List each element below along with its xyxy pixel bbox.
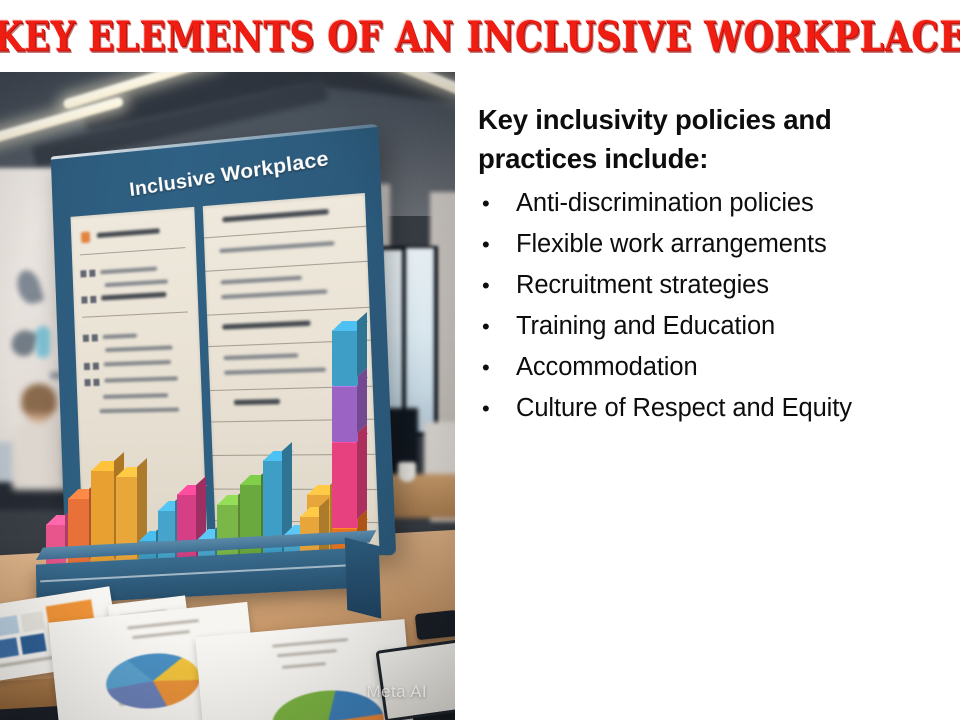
list-item: • Recruitment strategies xyxy=(478,270,948,300)
list-item-label: Culture of Respect and Equity xyxy=(516,393,852,423)
panel-chip xyxy=(80,270,86,277)
panel-text-line xyxy=(105,345,172,352)
panel-text-line xyxy=(219,241,334,253)
list-item-label: Anti-discrimination policies xyxy=(516,188,814,218)
list-item-label: Training and Education xyxy=(516,311,775,341)
list-item: • Accommodation xyxy=(478,352,948,382)
panel-rule xyxy=(80,247,186,255)
panel-text-line xyxy=(105,279,168,287)
panel-chip xyxy=(93,363,99,370)
panel-chip xyxy=(89,270,95,277)
panel-text-line xyxy=(224,367,326,374)
list-item-label: Recruitment strategies xyxy=(516,270,769,300)
title-bar: Key Elements of an Inclusive Workplace xyxy=(0,0,960,72)
panel-text-line xyxy=(224,353,299,360)
bullet-icon: • xyxy=(478,398,516,420)
wall-art-shape xyxy=(36,326,50,358)
panel-rule xyxy=(207,307,370,316)
panel-chip xyxy=(81,296,87,303)
panel-chip xyxy=(90,296,96,303)
panel-rule xyxy=(82,311,188,317)
podium-right-face xyxy=(345,537,381,618)
panel-text-line xyxy=(103,333,137,339)
bullet-icon: • xyxy=(478,316,516,338)
bullet-icon: • xyxy=(478,193,516,215)
panel-rule xyxy=(205,261,367,272)
panel-chip xyxy=(92,334,98,341)
panel-rule xyxy=(204,226,366,239)
slide-root: Key Elements of an Inclusive Workplace xyxy=(0,0,960,720)
panel-text-line xyxy=(222,320,310,329)
panel-marker xyxy=(81,231,90,243)
page-title: Key Elements of an Inclusive Workplace xyxy=(0,11,960,60)
meta-ai-watermark: Meta AI xyxy=(367,682,427,702)
content-column: Key inclusivity policies and practices i… xyxy=(478,100,948,435)
panel-text-line xyxy=(97,228,160,238)
tablet-device xyxy=(375,638,455,720)
chart-bar-stack-segment xyxy=(332,330,358,386)
panel-text-line xyxy=(101,292,166,301)
chart-bar-stack-segment xyxy=(332,442,358,528)
bullet-list: • Anti-discrimination policies • Flexibl… xyxy=(478,188,948,423)
list-item: • Training and Education xyxy=(478,311,948,341)
list-item: • Culture of Respect and Equity xyxy=(478,393,948,423)
content-heading: Key inclusivity policies and practices i… xyxy=(478,100,948,178)
board-title: Inclusive Workplace xyxy=(116,146,343,205)
bullet-icon: • xyxy=(478,234,516,256)
bullet-icon: • xyxy=(478,275,516,297)
list-item: • Anti-discrimination policies xyxy=(478,188,948,218)
coffee-cup-icon xyxy=(398,462,416,482)
panel-text-line xyxy=(100,267,157,275)
panel-text-line xyxy=(222,209,328,222)
panel-chip xyxy=(84,363,90,370)
list-item: • Flexible work arrangements xyxy=(478,229,948,259)
panel-chip xyxy=(83,335,89,342)
list-item-label: Flexible work arrangements xyxy=(516,229,827,259)
bullet-icon: • xyxy=(478,357,516,379)
panel-text-line xyxy=(104,360,171,366)
panel-text-line xyxy=(221,276,302,285)
window-pane xyxy=(406,248,434,432)
list-item-label: Accommodation xyxy=(516,352,698,382)
office-photo: Inclusive Workplace xyxy=(0,72,455,720)
phone-icon xyxy=(415,610,455,640)
chart-bar-stack-segment xyxy=(332,386,358,442)
panel-text-line xyxy=(221,289,327,299)
